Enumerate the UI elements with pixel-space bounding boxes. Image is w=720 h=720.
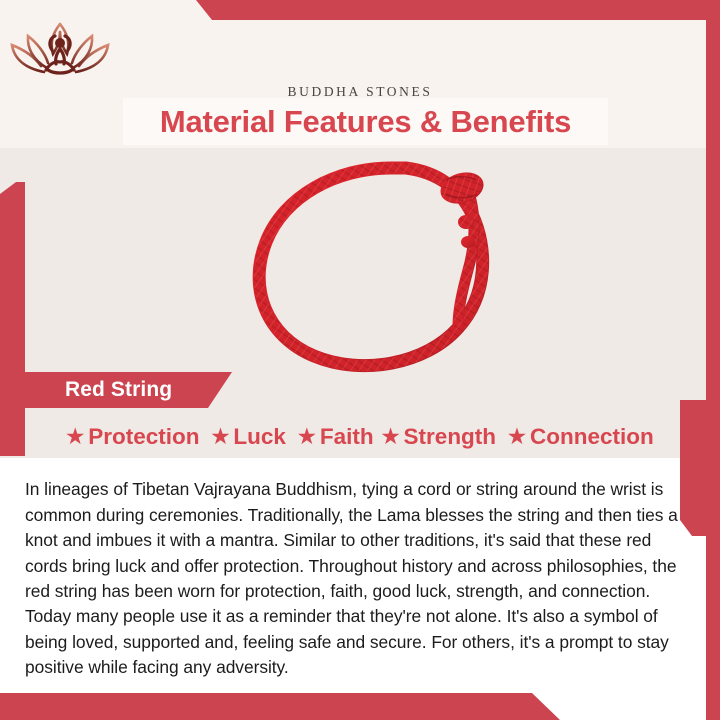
decor-bar-left (0, 182, 25, 456)
benefit-label: Protection (88, 424, 199, 450)
benefit-strength: ★ Strength (382, 424, 496, 450)
star-icon: ★ (66, 427, 84, 447)
benefits-row: ★ Protection ★ Luck ★ Faith ★ Strength ★… (25, 420, 695, 454)
star-icon: ★ (298, 427, 316, 447)
benefit-faith: ★ Faith (298, 424, 374, 450)
benefit-label: Faith (320, 424, 374, 450)
benefit-connection: ★ Connection (508, 424, 654, 450)
benefit-luck: ★ Luck (211, 424, 285, 450)
star-icon: ★ (508, 427, 526, 447)
brand-logo: BUDDHA STONES (0, 18, 720, 100)
lotus-meditation-icon (0, 18, 720, 82)
star-icon: ★ (382, 427, 400, 447)
benefit-label: Connection (530, 424, 654, 450)
benefit-label: Luck (233, 424, 286, 450)
title-banner: Material Features & Benefits (123, 98, 608, 145)
benefit-label: Strength (404, 424, 497, 450)
star-icon: ★ (211, 427, 229, 447)
product-label-banner: Red String (0, 372, 232, 408)
description-text: In lineages of Tibetan Vajrayana Buddhis… (25, 477, 693, 680)
poster-root: BUDDHA STONES Material Features & Benefi… (0, 0, 720, 720)
decor-band-bottom (0, 693, 560, 720)
red-braided-string-bracelet (210, 150, 530, 378)
product-label: Red String (65, 378, 172, 402)
page-title: Material Features & Benefits (160, 104, 571, 140)
decor-edge-right (706, 0, 720, 720)
benefit-protection: ★ Protection (66, 424, 199, 450)
